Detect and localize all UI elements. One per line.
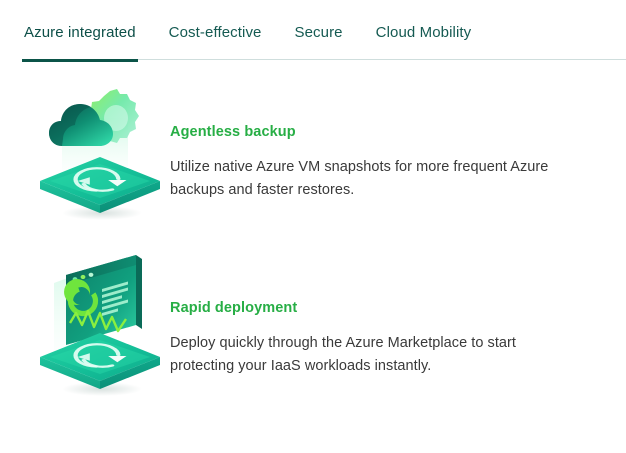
list-item: Agentless backup Utilize native Azure VM… [0, 62, 626, 238]
feature-title: Rapid deployment [170, 300, 590, 316]
cloud-gear-platform-icon [32, 71, 167, 221]
tab-secure[interactable]: Secure [295, 0, 343, 62]
feature-illustration-2 [0, 238, 170, 414]
feature-list: Agentless backup Utilize native Azure VM… [0, 62, 626, 414]
dashboard-analytics-platform-icon [32, 247, 167, 397]
feature-copy-2: Rapid deployment Deploy quickly through … [170, 238, 590, 378]
feature-description: Utilize native Azure VM snapshots for mo… [170, 156, 560, 202]
dashboard-window-icon [64, 255, 142, 345]
feature-title: Agentless backup [170, 124, 590, 140]
tab-list: Azure integrated Cost-effective Secure C… [24, 0, 471, 62]
feature-illustration-1 [0, 62, 170, 238]
isometric-platform [40, 157, 160, 213]
feature-copy-1: Agentless backup Utilize native Azure VM… [170, 62, 590, 202]
feature-description: Deploy quickly through the Azure Marketp… [170, 332, 560, 378]
tab-azure-integrated[interactable]: Azure integrated [24, 0, 136, 62]
tab-cloud-mobility[interactable]: Cloud Mobility [376, 0, 472, 62]
feature-tabbar: Azure integrated Cost-effective Secure C… [0, 0, 626, 62]
list-item: Rapid deployment Deploy quickly through … [0, 238, 626, 414]
tab-cost-effective[interactable]: Cost-effective [169, 0, 262, 62]
